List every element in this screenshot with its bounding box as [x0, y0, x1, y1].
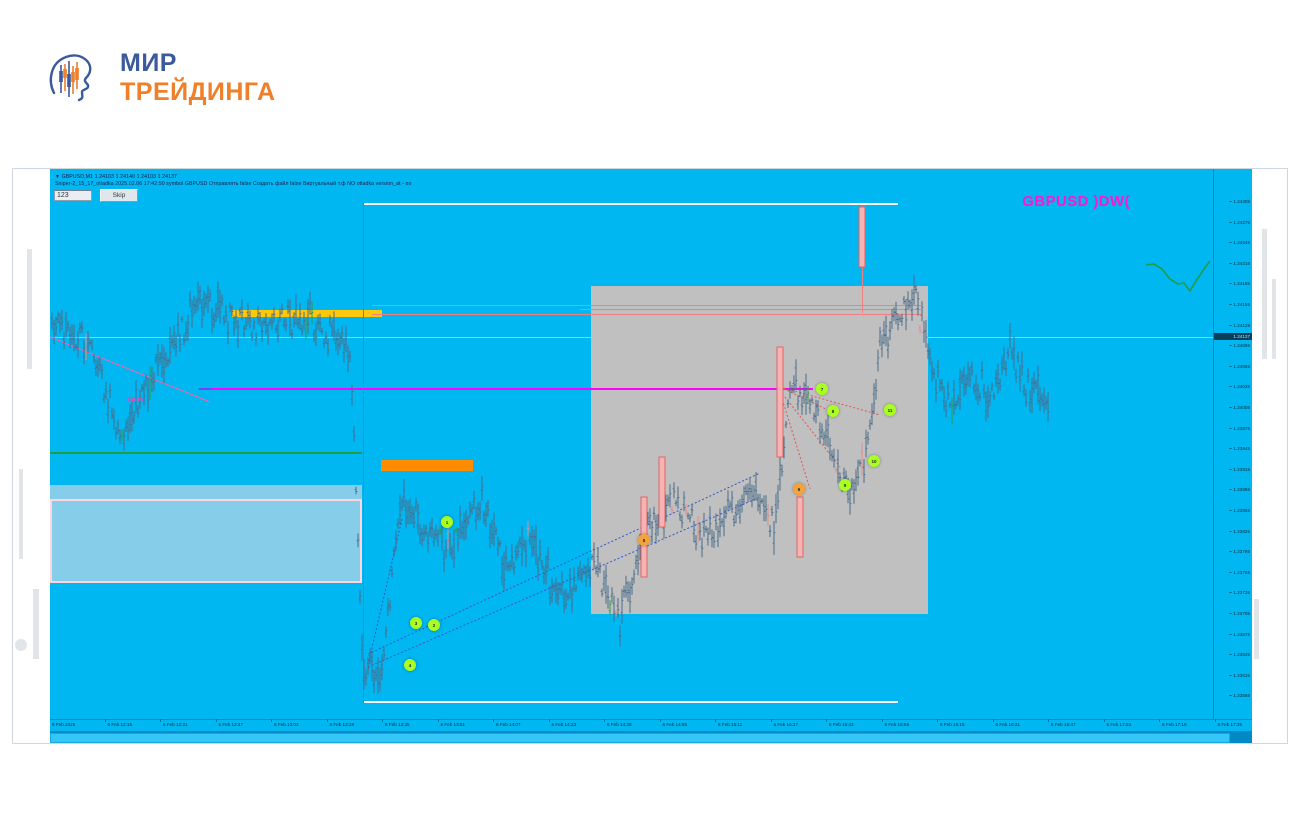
- price-tick: 1.24155: [1233, 302, 1250, 307]
- time-tick: 6 Feb 13:35: [385, 722, 410, 727]
- brand-line-2: ТРЕЙДИНГА: [120, 80, 276, 105]
- signal-marker[interactable]: 5: [638, 534, 650, 546]
- time-tick: 6 Feb 12:47: [219, 722, 244, 727]
- chart-symbol-text: GBPUSD,M1 1.24103 1.24140 1.24103 1.2413…: [62, 174, 177, 180]
- price-tick: 1.23885: [1233, 487, 1250, 492]
- time-tick: 6 Feb 16:47: [1051, 722, 1076, 727]
- price-scale[interactable]: 1.243051.242751.242451.242151.241851.241…: [1213, 169, 1252, 731]
- price-tick: 1.23915: [1233, 467, 1250, 472]
- time-tick: 6 Feb 17:03: [1107, 722, 1132, 727]
- triangle-down-icon[interactable]: ▼: [55, 174, 60, 180]
- time-tick: 6 Feb 14:55: [663, 722, 688, 727]
- right-edge-strip: [1250, 169, 1287, 744]
- price-tick: 1.24245: [1233, 240, 1250, 245]
- brand-line-1: МИР: [120, 51, 276, 76]
- time-tick: 6 Feb 14:23: [552, 722, 577, 727]
- time-scale[interactable]: 6 Feb 20256 Feb 12:156 Feb 12:316 Feb 12…: [50, 719, 1252, 731]
- signal-marker[interactable]: 9: [839, 479, 851, 491]
- price-tick: 1.24185: [1233, 281, 1250, 286]
- time-tick: 6 Feb 13:19: [330, 722, 355, 727]
- signal-marker[interactable]: 8: [827, 405, 839, 417]
- chart-plot[interactable]: 4321567891011 816 96: [50, 197, 1214, 731]
- price-tick: 1.24215: [1233, 261, 1250, 266]
- time-tick: 6 Feb 12:15: [108, 722, 133, 727]
- candlestick-series: [50, 197, 1214, 731]
- chart-canvas-area[interactable]: ▼ GBPUSD,M1 1.24103 1.24140 1.24103 1.24…: [50, 169, 1252, 744]
- price-tick: 1.24065: [1233, 364, 1250, 369]
- signal-marker[interactable]: 11: [884, 404, 896, 416]
- time-tick: 6 Feb 15:11: [718, 722, 742, 727]
- price-tick: 1.23825: [1233, 529, 1250, 534]
- price-tick: 1.23675: [1233, 632, 1250, 637]
- time-tick: 6 Feb 15:27: [774, 722, 799, 727]
- chart-symbol-header: ▼ GBPUSD,M1 1.24103 1.24140 1.24103 1.24…: [55, 174, 177, 180]
- signal-marker[interactable]: 6: [793, 483, 805, 495]
- price-tick: 1.24095: [1233, 343, 1250, 348]
- ea-status-header: Sniper-2_15_17_otladka 2025.02.06 17:42:…: [55, 181, 411, 187]
- price-tick: 1.24005: [1233, 405, 1250, 410]
- time-tick: 6 Feb 17:35: [1218, 722, 1243, 727]
- price-tick: 1.23975: [1233, 426, 1250, 431]
- price-tick: 1.23765: [1233, 570, 1250, 575]
- signal-marker[interactable]: 2: [428, 619, 440, 631]
- brand-logo: МИР ТРЕЙДИНГА: [44, 36, 364, 120]
- signal-marker[interactable]: 4: [404, 659, 416, 671]
- time-tick: 6 Feb 14:07: [496, 722, 521, 727]
- price-tick: 1.23945: [1233, 446, 1250, 451]
- time-tick: 6 Feb 16:15: [940, 722, 965, 727]
- time-tick: 6 Feb 2025: [52, 722, 75, 727]
- price-tick: 1.23705: [1233, 611, 1250, 616]
- time-tick: 6 Feb 12:31: [163, 722, 188, 727]
- signal-marker[interactable]: 10: [868, 455, 880, 467]
- head-candlestick-logo-icon: [44, 47, 106, 109]
- pink-annotation-label: 816 96: [128, 397, 143, 403]
- price-tick: 1.23735: [1233, 590, 1250, 595]
- price-tick: 1.23585: [1233, 693, 1250, 698]
- price-tick: 1.23855: [1233, 508, 1250, 513]
- left-edge-strip: [13, 169, 50, 744]
- price-tick: 1.23645: [1233, 652, 1250, 657]
- price-tick: 1.24305: [1233, 199, 1250, 204]
- scrollbar-thumb[interactable]: [50, 733, 1230, 743]
- time-tick: 6 Feb 17:19: [1162, 722, 1187, 727]
- signal-marker[interactable]: 3: [410, 617, 422, 629]
- signal-marker[interactable]: 7: [816, 383, 828, 395]
- time-tick: 6 Feb 15:43: [829, 722, 854, 727]
- price-tick: 1.23795: [1233, 549, 1250, 554]
- time-tick: 6 Feb 13:03: [274, 722, 299, 727]
- price-tick: 1.24275: [1233, 220, 1250, 225]
- price-tick: 1.24035: [1233, 384, 1250, 389]
- price-tick: 1.23615: [1233, 673, 1250, 678]
- current-price-label: 1.24137: [1214, 333, 1252, 340]
- time-tick: 6 Feb 14:39: [607, 722, 632, 727]
- horizontal-scrollbar[interactable]: [50, 731, 1252, 744]
- time-tick: 6 Feb 16:31: [996, 722, 1021, 727]
- mt4-chart-window[interactable]: ▼ GBPUSD,M1 1.24103 1.24140 1.24103 1.24…: [12, 168, 1288, 744]
- time-tick: 6 Feb 15:59: [885, 722, 910, 727]
- signal-marker[interactable]: 1: [441, 516, 453, 528]
- price-tick: 1.24125: [1233, 323, 1250, 328]
- time-tick: 6 Feb 13:51: [441, 722, 466, 727]
